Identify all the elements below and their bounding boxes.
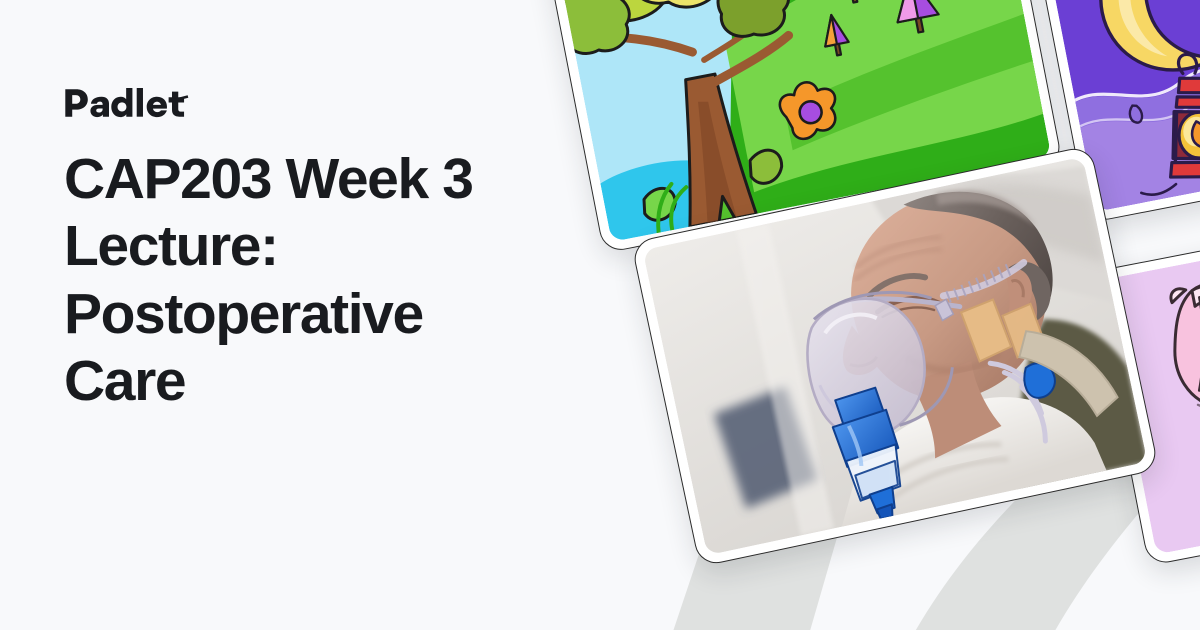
padlet-wordmark-icon: [64, 88, 201, 118]
padlet-logo[interactable]: [64, 88, 560, 118]
left-content-panel: CAP203 Week 3 Lecture: Postoperative Car…: [0, 0, 560, 630]
page-title: CAP203 Week 3 Lecture: Postoperative Car…: [64, 146, 534, 415]
og-share-card: CAP203 Week 3 Lecture: Postoperative Car…: [0, 0, 1200, 630]
